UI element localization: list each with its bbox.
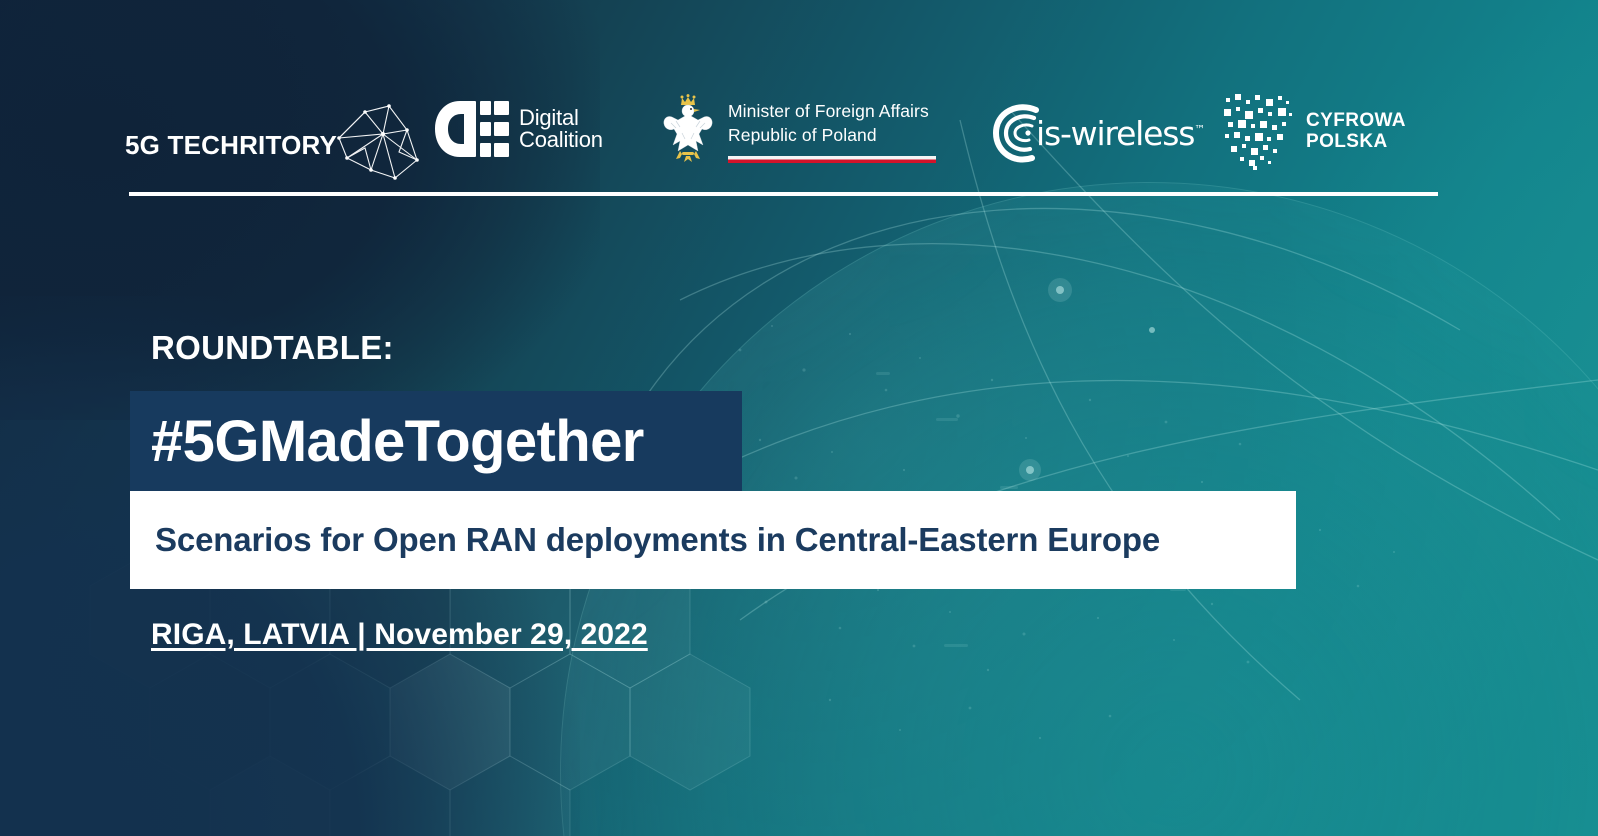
logo-5g-techritory-label: 5G TECHRITORY: [125, 130, 337, 161]
polish-eagle-crest-icon: [660, 93, 716, 165]
logo-digital-coalition-label: Digital Coalition: [519, 107, 603, 152]
partner-logo-bar: 5G TECHRITORY: [0, 0, 1598, 200]
logo-poland-mfa-line2: Republic of Poland: [728, 124, 936, 148]
logo-digital-coalition-line2: Coalition: [519, 129, 603, 151]
logo-digital-coalition-line1: Digital: [519, 107, 603, 129]
event-banner: 5G TECHRITORY: [0, 0, 1598, 836]
logo-cyfrowa-polska-line2: POLSKA: [1306, 131, 1406, 152]
date-location-text: RIGA, LATVIA | November 29, 2022: [151, 618, 648, 652]
logo-is-wireless[interactable]: is-wireless™: [988, 100, 1205, 166]
subtitle-band: Scenarios for Open RAN deployments in Ce…: [130, 491, 1296, 589]
trademark-symbol: ™: [1194, 123, 1205, 136]
logo-cyfrowa-polska-label: CYFROWA POLSKA: [1306, 110, 1406, 153]
digital-coalition-monogram-icon: [434, 100, 510, 158]
network-mesh-icon: [331, 104, 421, 186]
page-title: #5GMadeTogether: [130, 408, 644, 475]
logo-poland-mfa-label: Minister of Foreign Affairs Republic of …: [728, 93, 936, 163]
date-location-underline: RIGA, LATVIA | November 29, 2022: [151, 618, 648, 651]
logo-poland-mfa[interactable]: Minister of Foreign Affairs Republic of …: [660, 93, 936, 165]
logo-bar-divider: [129, 192, 1438, 196]
logo-cyfrowa-polska[interactable]: CYFROWA POLSKA: [1222, 92, 1406, 170]
kicker-text: ROUNDTABLE:: [151, 329, 394, 367]
page-subtitle: Scenarios for Open RAN deployments in Ce…: [130, 521, 1160, 559]
logo-cyfrowa-polska-line1: CYFROWA: [1306, 110, 1406, 131]
logo-digital-coalition[interactable]: Digital Coalition: [434, 100, 603, 158]
pixel-mosaic-icon: [1222, 92, 1296, 170]
poland-flag-bar: [728, 156, 936, 163]
logo-is-wireless-label: is-wireless™: [1036, 114, 1205, 153]
title-band: #5GMadeTogether: [130, 391, 742, 492]
logo-poland-mfa-line1: Minister of Foreign Affairs: [728, 100, 936, 124]
logo-5g-techritory[interactable]: 5G TECHRITORY: [125, 104, 421, 186]
